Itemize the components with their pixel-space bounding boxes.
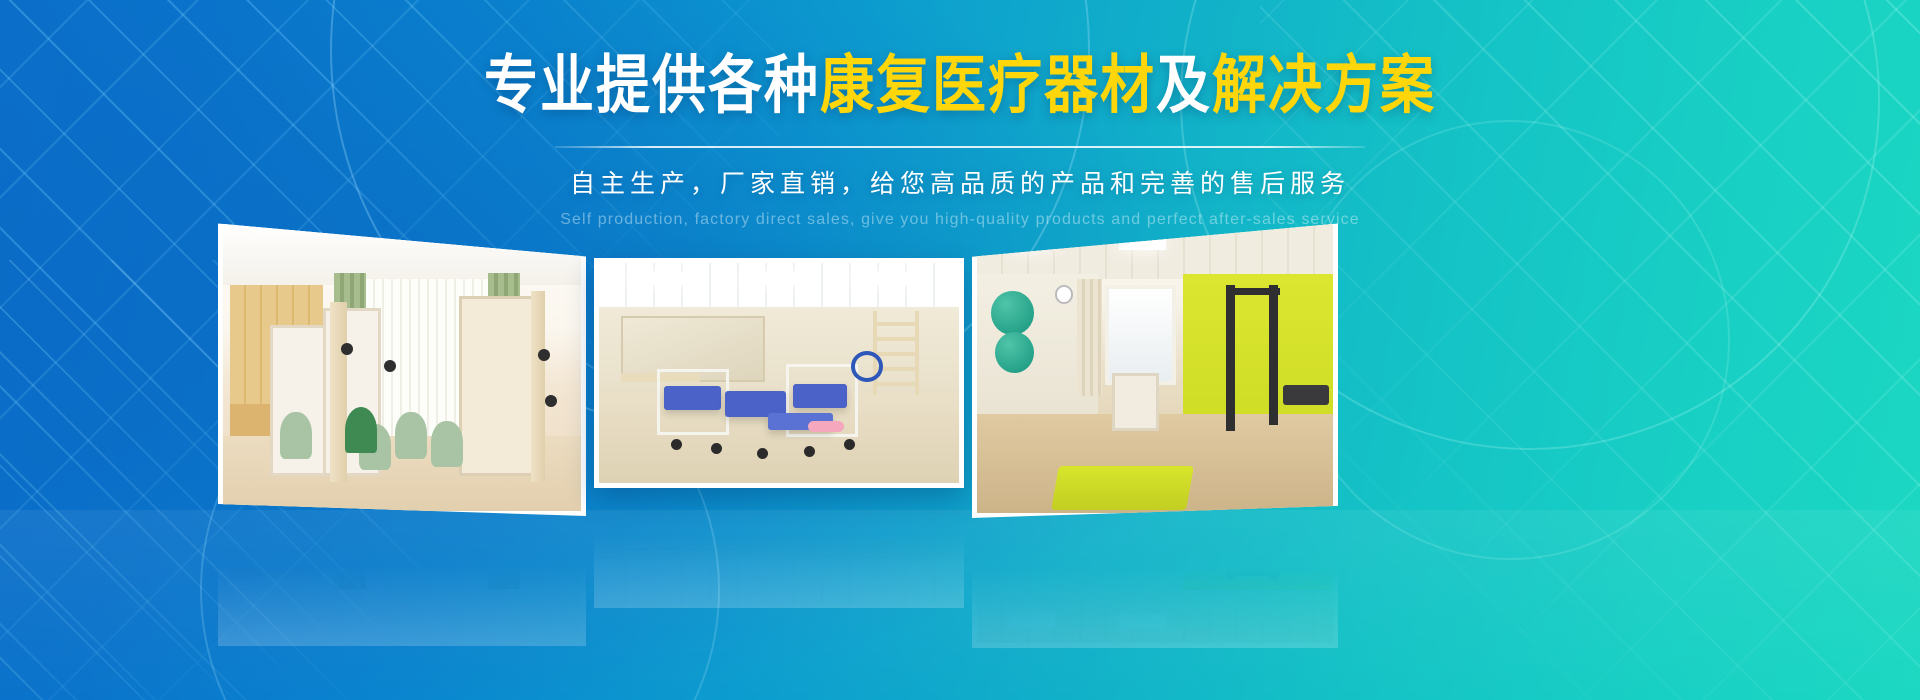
headline-segment-1: 专业提供各种: [484, 50, 820, 121]
photo-3[interactable]: [972, 216, 1338, 518]
subtitle-chinese: 自主生产，厂家直销，给您高品质的产品和完善的售后服务: [0, 164, 1920, 200]
photo-1-image: [223, 221, 581, 511]
headline-segment-4: 解决方案: [1212, 50, 1436, 121]
headline: 专业提供各种康复医疗器材及解决方案: [484, 54, 1436, 118]
photo-3-image: [977, 221, 1333, 513]
photo-1[interactable]: [218, 216, 586, 516]
headline-segment-2: 康复医疗器材: [820, 50, 1156, 121]
photo-2[interactable]: [594, 258, 964, 488]
subtitle-english: Self production, factory direct sales, g…: [0, 211, 1920, 229]
banner-text-block: 专业提供各种康复医疗器材及解决方案 自主生产，厂家直销，给您高品质的产品和完善的…: [0, 54, 1920, 229]
headline-segment-3: 及: [1156, 50, 1212, 121]
headline-divider: [555, 146, 1365, 148]
promo-banner: 专业提供各种康复医疗器材及解决方案 自主生产，厂家直销，给您高品质的产品和完善的…: [0, 0, 1920, 700]
photo-2-image: [599, 263, 959, 483]
